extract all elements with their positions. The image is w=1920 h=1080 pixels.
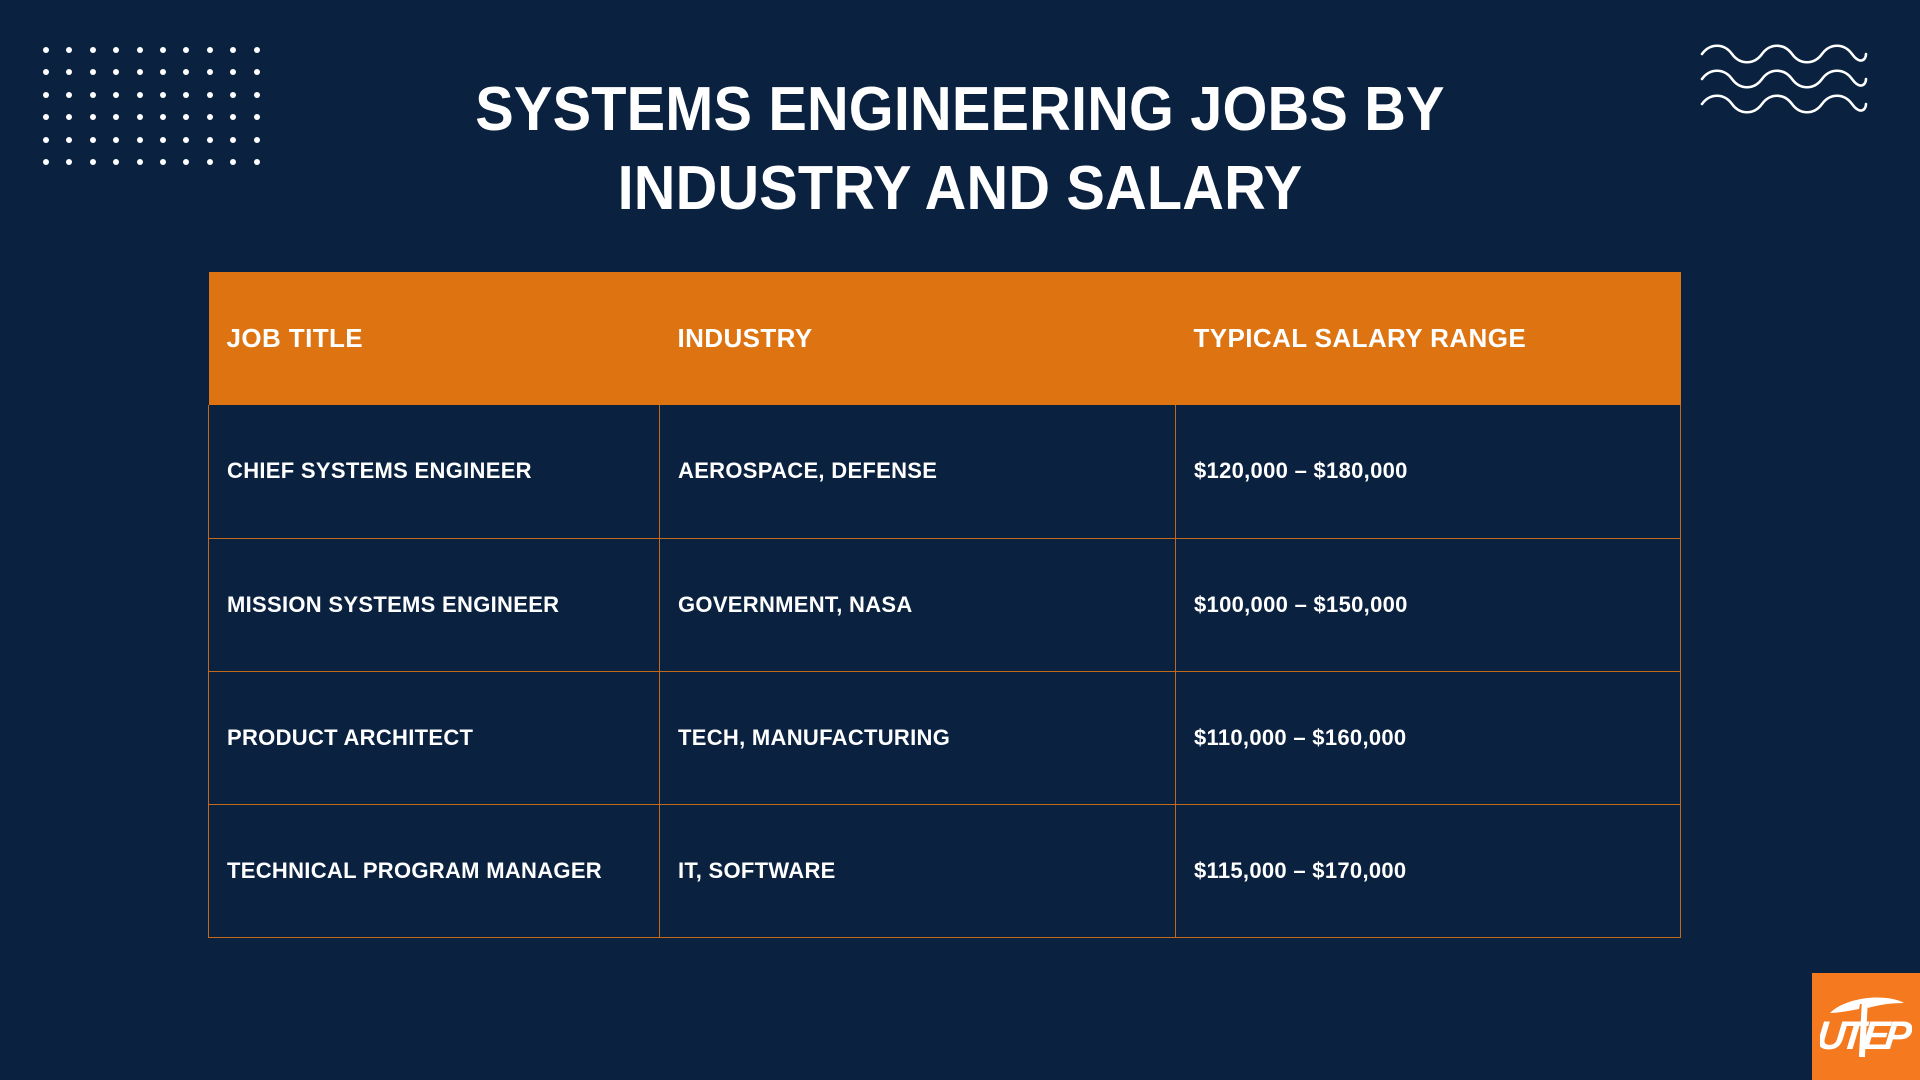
decoration-dot	[43, 114, 49, 120]
slide-title-line-1: SYSTEMS ENGINEERING JOBS BY	[365, 70, 1555, 149]
decoration-dot	[137, 137, 143, 143]
decoration-dot	[66, 114, 72, 120]
decoration-dot	[113, 47, 119, 53]
cell-industry: AEROSPACE, DEFENSE	[660, 405, 1176, 538]
decoration-dot	[183, 137, 189, 143]
decoration-dot	[43, 69, 49, 75]
wave-lines-decoration	[1700, 40, 1868, 118]
decoration-dot	[137, 114, 143, 120]
jobs-table: JOB TITLE INDUSTRY TYPICAL SALARY RANGE …	[208, 272, 1681, 938]
cell-industry: TECH, MANUFACTURING	[660, 671, 1176, 804]
decoration-dot	[254, 159, 260, 165]
decoration-dot	[66, 159, 72, 165]
decoration-dot	[43, 92, 49, 98]
table-header: JOB TITLE INDUSTRY TYPICAL SALARY RANGE	[209, 272, 1681, 405]
decoration-dot	[230, 92, 236, 98]
column-header-salary-range: TYPICAL SALARY RANGE	[1176, 272, 1681, 405]
decoration-dot	[113, 137, 119, 143]
decoration-dot	[160, 47, 166, 53]
decoration-dot	[137, 47, 143, 53]
decoration-dot	[230, 69, 236, 75]
decoration-dot	[254, 47, 260, 53]
decoration-dot	[137, 92, 143, 98]
decoration-dot	[207, 137, 213, 143]
decoration-dot	[90, 69, 96, 75]
decoration-dot	[43, 47, 49, 53]
decoration-dot	[160, 114, 166, 120]
decoration-dot	[66, 69, 72, 75]
jobs-table-container: JOB TITLE INDUSTRY TYPICAL SALARY RANGE …	[208, 272, 1680, 938]
decoration-dot	[254, 114, 260, 120]
decoration-dot	[230, 47, 236, 53]
decoration-dot	[90, 92, 96, 98]
cell-job-title: PRODUCT ARCHITECT	[209, 671, 660, 804]
decoration-dot	[113, 159, 119, 165]
cell-industry: GOVERNMENT, NASA	[660, 538, 1176, 671]
decoration-dot	[90, 159, 96, 165]
decoration-dot	[90, 137, 96, 143]
decoration-dot	[90, 114, 96, 120]
table-row: TECHNICAL PROGRAM MANAGER IT, SOFTWARE $…	[209, 804, 1681, 937]
cell-job-title: TECHNICAL PROGRAM MANAGER	[209, 804, 660, 937]
decoration-dot	[254, 69, 260, 75]
decoration-dot	[183, 114, 189, 120]
decoration-dot	[230, 137, 236, 143]
cell-job-title: MISSION SYSTEMS ENGINEER	[209, 538, 660, 671]
svg-text:P: P	[1883, 1014, 1912, 1058]
column-header-job-title: JOB TITLE	[209, 272, 660, 405]
decoration-dot	[230, 159, 236, 165]
decoration-dot	[254, 137, 260, 143]
table-body: CHIEF SYSTEMS ENGINEER AEROSPACE, DEFENS…	[209, 405, 1681, 937]
decoration-dot	[113, 69, 119, 75]
decoration-dot	[137, 159, 143, 165]
slide-title-line-2: INDUSTRY AND SALARY	[365, 149, 1555, 228]
decoration-dot	[183, 92, 189, 98]
table-row: MISSION SYSTEMS ENGINEER GOVERNMENT, NAS…	[209, 538, 1681, 671]
decoration-dot	[66, 47, 72, 53]
decoration-dot	[160, 159, 166, 165]
decoration-dot	[66, 137, 72, 143]
table-row: CHIEF SYSTEMS ENGINEER AEROSPACE, DEFENS…	[209, 405, 1681, 538]
utep-logo: U T E P	[1812, 973, 1920, 1080]
decoration-dot	[183, 159, 189, 165]
decoration-dot	[90, 47, 96, 53]
cell-industry: IT, SOFTWARE	[660, 804, 1176, 937]
decoration-dot	[254, 92, 260, 98]
decoration-dot	[230, 114, 236, 120]
decoration-dot	[183, 69, 189, 75]
table-header-row: JOB TITLE INDUSTRY TYPICAL SALARY RANGE	[209, 272, 1681, 405]
slide-title: SYSTEMS ENGINEERING JOBS BY INDUSTRY AND…	[320, 70, 1600, 229]
decoration-dot	[137, 69, 143, 75]
decoration-dot	[160, 92, 166, 98]
decoration-dot	[207, 47, 213, 53]
cell-salary: $120,000 – $180,000	[1176, 405, 1681, 538]
cell-salary: $100,000 – $150,000	[1176, 538, 1681, 671]
cell-salary: $115,000 – $170,000	[1176, 804, 1681, 937]
decoration-dot	[43, 159, 49, 165]
decoration-dot	[113, 114, 119, 120]
table-row: PRODUCT ARCHITECT TECH, MANUFACTURING $1…	[209, 671, 1681, 804]
cell-salary: $110,000 – $160,000	[1176, 671, 1681, 804]
decoration-dot	[113, 92, 119, 98]
decoration-dot	[207, 69, 213, 75]
decoration-dot	[207, 92, 213, 98]
decoration-dot	[160, 69, 166, 75]
decoration-dot	[43, 137, 49, 143]
column-header-industry: INDUSTRY	[660, 272, 1176, 405]
decoration-dot	[160, 137, 166, 143]
decoration-dot	[207, 114, 213, 120]
decoration-dot	[207, 159, 213, 165]
decoration-dot	[66, 92, 72, 98]
cell-job-title: CHIEF SYSTEMS ENGINEER	[209, 405, 660, 538]
decoration-dot	[183, 47, 189, 53]
dot-grid-decoration	[43, 47, 263, 169]
